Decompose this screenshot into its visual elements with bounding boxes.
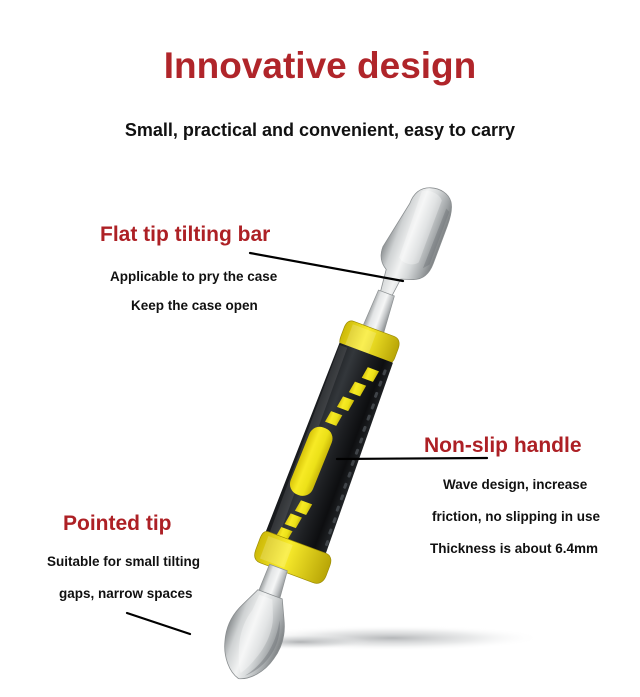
pointed-blade (212, 584, 296, 688)
callout-heading-flat-tip: Flat tip tilting bar (100, 222, 270, 248)
callout-text-pointed-tip-2: gaps, narrow spaces (59, 585, 193, 603)
callout-text-non-slip-handle-2: friction, no slipping in use (432, 508, 600, 526)
callout-text-pointed-tip-1: Suitable for small tilting (47, 553, 200, 571)
page-title: Innovative design (0, 44, 640, 88)
infographic-page: Innovative design Small, practical and c… (0, 0, 640, 697)
callout-text-flat-tip-2: Keep the case open (131, 297, 258, 315)
callout-heading-non-slip-handle: Non-slip handle (424, 433, 582, 459)
page-subtitle: Small, practical and convenient, easy to… (0, 118, 640, 142)
callout-text-non-slip-handle-3: Thickness is about 6.4mm (430, 540, 598, 558)
callout-text-flat-tip-1: Applicable to pry the case (110, 268, 277, 286)
callout-text-non-slip-handle-1: Wave design, increase (443, 476, 587, 494)
callout-heading-pointed-tip: Pointed tip (63, 511, 172, 537)
